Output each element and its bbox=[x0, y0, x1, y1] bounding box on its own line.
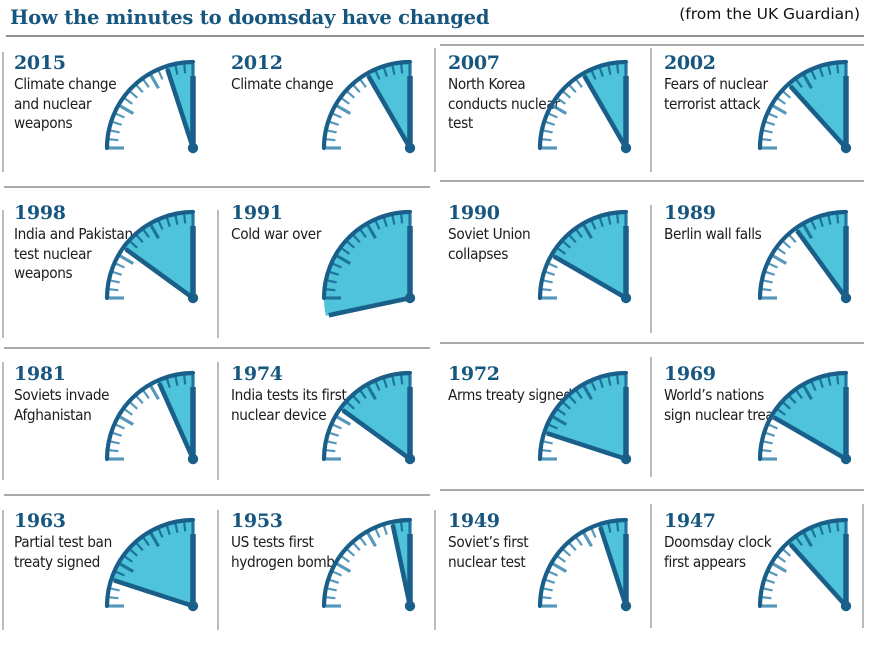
row-separator bbox=[440, 44, 864, 46]
column-divider bbox=[650, 205, 652, 333]
clock-cell-1947: 1947Doomsday clock first appears bbox=[650, 500, 870, 653]
clock-cell-1969: 1969World’s nations sign nuclear treaty bbox=[650, 353, 870, 500]
doomsday-clock-gauge-icon bbox=[754, 355, 866, 487]
column-divider bbox=[434, 48, 436, 172]
clock-cell-1949: 1949Soviet’s first nuclear test bbox=[434, 500, 650, 653]
doomsday-clock-gauge-icon bbox=[101, 44, 213, 176]
column-divider bbox=[217, 362, 219, 480]
doomsday-clock-gauge-icon bbox=[754, 44, 866, 176]
title-divider bbox=[6, 35, 864, 37]
doomsday-clock-gauge-icon bbox=[318, 502, 430, 634]
clock-cell-1990: 1990Soviet Union collapses bbox=[434, 192, 650, 353]
clock-cell-2015: 2015Climate change and nuclear weapons bbox=[0, 42, 217, 192]
doomsday-clock-gauge-icon bbox=[534, 44, 646, 176]
clock-cell-1972: 1972Arms treaty signed bbox=[434, 353, 650, 500]
row-separator bbox=[4, 186, 430, 188]
row-separator bbox=[440, 489, 864, 491]
doomsday-clock-gauge-icon bbox=[754, 502, 866, 634]
column-divider bbox=[2, 52, 4, 172]
column-divider bbox=[650, 504, 652, 628]
doomsday-clock-gauge-icon bbox=[534, 194, 646, 326]
row-separator bbox=[440, 180, 864, 182]
clock-cell-1998: 1998India and Pakistan test nuclear weap… bbox=[0, 192, 217, 353]
clock-cell-1974: 1974India tests its first nuclear device bbox=[217, 353, 434, 500]
page-title: How the minutes to doomsday have changed bbox=[10, 6, 489, 29]
column-divider bbox=[217, 510, 219, 630]
row-separator bbox=[4, 347, 430, 349]
clock-cell-1981: 1981Soviets invade Afghanistan bbox=[0, 353, 217, 500]
doomsday-clock-gauge-icon bbox=[318, 44, 430, 176]
doomsday-clock-gauge-icon bbox=[754, 194, 866, 326]
column-divider bbox=[650, 357, 652, 477]
column-divider bbox=[862, 504, 864, 628]
column-divider bbox=[650, 48, 652, 172]
doomsday-clock-grid: 2015Climate change and nuclear weapons20… bbox=[0, 42, 870, 653]
column-divider bbox=[2, 210, 4, 338]
clock-cell-1989: 1989Berlin wall falls bbox=[650, 192, 870, 353]
clock-cell-1991: 1991Cold war over bbox=[217, 192, 434, 353]
source-attribution: (from the UK Guardian) bbox=[679, 5, 860, 23]
clock-cell-1953: 1953US tests first hydrogen bomb bbox=[217, 500, 434, 653]
clock-cell-2007: 2007North Korea conducts nuclear test bbox=[434, 42, 650, 192]
doomsday-clock-gauge-icon bbox=[318, 355, 430, 487]
doomsday-clock-gauge-icon bbox=[101, 502, 213, 634]
row-separator bbox=[4, 494, 430, 496]
row-separator bbox=[440, 342, 864, 344]
doomsday-clock-gauge-icon bbox=[534, 502, 646, 634]
clock-cell-2002: 2002Fears of nuclear terrorist attack bbox=[650, 42, 870, 192]
clock-cell-2012: 2012Climate change bbox=[217, 42, 434, 192]
column-divider bbox=[2, 510, 4, 630]
column-divider bbox=[2, 362, 4, 480]
doomsday-clock-gauge-icon bbox=[318, 194, 430, 326]
column-divider bbox=[434, 510, 436, 630]
doomsday-clock-gauge-icon bbox=[534, 355, 646, 487]
clock-cell-1963: 1963Partial test ban treaty signed bbox=[0, 500, 217, 653]
doomsday-clock-gauge-icon bbox=[101, 355, 213, 487]
infographic-header: How the minutes to doomsday have changed… bbox=[0, 0, 870, 42]
doomsday-clock-gauge-icon bbox=[101, 194, 213, 326]
column-divider bbox=[217, 210, 219, 338]
